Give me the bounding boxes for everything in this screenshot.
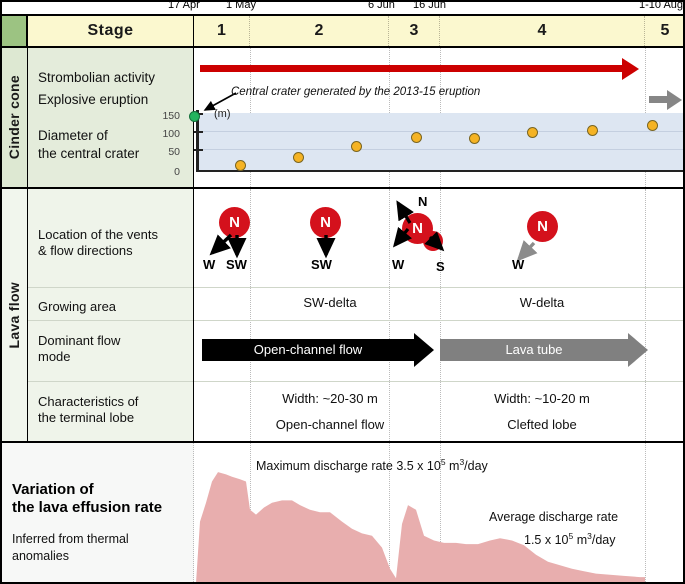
stage-cell-1[interactable]: 1 [194, 16, 250, 46]
stage-cell-label: 4 [538, 22, 547, 40]
lava-flow-content-area: N W SW N [194, 189, 685, 441]
content-row-separator-1 [194, 287, 685, 288]
terminal-lobe-type-sw: Open-channel flow [260, 417, 400, 432]
crater-chart-background [198, 113, 685, 171]
flow-direction-arrows-stage3 [390, 193, 470, 263]
lava-flow-row-labels: Location of the vents & flow directions … [28, 189, 194, 441]
stage-title-cell: Stage [28, 16, 194, 46]
date-strip: 17 Apr1 May6 Jun16 Jun1-10 Aug [0, 0, 685, 14]
stage-cell-label: 3 [410, 22, 419, 40]
stage-cell-3[interactable]: 3 [389, 16, 440, 46]
effusion-avg-annotation-line1: Average discharge rate [489, 510, 618, 524]
max-annot-tail: /day [464, 459, 488, 473]
flow-direction-label-stage1-sw: SW [226, 257, 247, 272]
cinder-cone-section: Cinder cone Strombolian activity Explosi… [0, 48, 685, 189]
effusion-subtitle-line1: Inferred from thermal [12, 531, 129, 548]
date-label-3: 16 Jun [413, 0, 446, 11]
row-label-vents-line2: & flow directions [38, 243, 133, 259]
effusion-title-line1: Variation of [12, 481, 162, 499]
crater-datapoint-3 [411, 132, 422, 143]
stage-cell-4[interactable]: 4 [440, 16, 645, 46]
terminal-lobe-width-w: Width: ~10-20 m [472, 391, 612, 406]
effusion-rate-section: Variation of the lava effusion rate Infe… [0, 443, 685, 584]
stage-cell-5[interactable]: 5 [645, 16, 685, 46]
stage-cell-label: 5 [661, 22, 670, 40]
content-row-separator-2 [194, 320, 685, 321]
flow-direction-label-stage3-s: S [436, 259, 445, 274]
stage-cell-2[interactable]: 2 [250, 16, 389, 46]
growing-area-sw-delta: SW-delta [270, 295, 390, 310]
flow-mode-arrow-lava-tube: Lava tube [440, 339, 648, 361]
row-label-flowmode-line2: mode [38, 349, 71, 365]
strombolian-activity-arrow-body [200, 65, 624, 72]
stage-header-row: Stage 12345 [0, 14, 685, 48]
crater-datapoint-4 [469, 133, 480, 144]
flow-direction-label-stage4-w: W [512, 257, 524, 272]
growing-area-w-delta: W-delta [482, 295, 602, 310]
row-label-vents-line1: Location of the vents [38, 227, 158, 243]
y-tick-150: 150 [154, 110, 180, 122]
terminal-lobe-width-sw: Width: ~20-30 m [260, 391, 400, 406]
chart-gridline-100 [198, 131, 685, 132]
flow-direction-label-stage2-sw: SW [311, 257, 332, 272]
flow-mode-arrow-open-channel: Open-channel flow [202, 339, 432, 361]
row-label-strombolian: Strombolian activity [38, 70, 155, 85]
stage-divider-5 [645, 189, 646, 441]
chart-tick-50 [194, 149, 203, 151]
strombolian-activity-arrow-head [622, 58, 639, 80]
stage-divider-2 [250, 189, 251, 441]
effusion-subtitle: Inferred from thermal anomalies [12, 531, 129, 565]
explosive-eruption-arrow-head [667, 90, 682, 110]
row-separator-3 [28, 381, 193, 382]
stage-cell-label: 2 [315, 22, 324, 40]
cinder-cone-side-text: Cinder cone [6, 75, 22, 159]
effusion-max-annotation: Maximum discharge rate 3.5 x 105 m3/day [256, 457, 488, 473]
date-label-2: 6 Jun [368, 0, 395, 11]
date-label-0: 17 Apr [168, 0, 200, 11]
cinder-cone-side-label: Cinder cone [0, 48, 28, 187]
crater-unit-label: (m) [214, 108, 231, 120]
crater-datapoint-5 [527, 127, 538, 138]
stage-cell-label: 1 [217, 22, 226, 40]
y-tick-50: 50 [154, 146, 180, 158]
row-label-growing-area: Growing area [38, 299, 116, 315]
row-label-lobe-line2: the terminal lobe [38, 410, 134, 426]
row-label-flowmode-line1: Dominant flow [38, 333, 120, 349]
y-tick-100: 100 [154, 128, 180, 140]
stage-title-label: Stage [87, 22, 133, 40]
crater-datapoint-7 [647, 120, 658, 131]
row-separator-1 [28, 287, 193, 288]
header-corner-cell [0, 16, 28, 46]
crater-annotation-text: Central crater generated by the 2013-15 … [231, 86, 480, 98]
date-label-4: 1-10 Aug [639, 0, 683, 11]
date-label-1: 1 May [226, 0, 256, 11]
effusion-area-path [196, 472, 645, 583]
effusion-avg-annotation-line2: 1.5 x 105 m3/day [524, 531, 615, 547]
max-annot-post: m [446, 459, 460, 473]
flow-direction-label-stage1-w: W [203, 257, 215, 272]
effusion-subtitle-line2: anomalies [12, 548, 129, 565]
row-separator-2 [28, 320, 193, 321]
lava-flow-section: Lava flow Location of the vents & flow d… [0, 189, 685, 443]
flow-direction-label-stage3-w: W [392, 257, 404, 272]
row-label-lobe-line1: Characteristics of [38, 394, 138, 410]
lava-flow-side-label: Lava flow [0, 189, 28, 441]
cinder-cone-row-labels: Strombolian activity Explosive eruption … [28, 48, 194, 187]
content-row-separator-3 [194, 381, 685, 382]
max-annot-pre: Maximum discharge rate 3.5 x 10 [256, 459, 441, 473]
avg-annot-mid: m [573, 533, 587, 547]
lava-flow-side-text: Lava flow [6, 282, 22, 349]
row-label-explosive: Explosive eruption [38, 92, 148, 107]
effusion-title: Variation of the lava effusion rate [12, 481, 162, 517]
chart-tick-100 [194, 131, 203, 133]
row-label-diameter-line1: Diameter of [38, 128, 108, 143]
crater-datapoint-initial [189, 111, 200, 122]
row-label-diameter-line2: the central crater [38, 146, 139, 161]
effusion-title-line2: the lava effusion rate [12, 499, 162, 517]
cinder-cone-plot-area: Central crater generated by the 2013-15 … [194, 48, 685, 187]
crater-datapoint-1 [293, 152, 304, 163]
crater-datapoint-0 [235, 160, 246, 171]
flow-mode-label-open-channel: Open-channel flow [202, 339, 414, 361]
effusion-chart-area: Maximum discharge rate 3.5 x 105 m3/day … [194, 443, 685, 584]
flow-direction-label-stage3-n: N [418, 194, 427, 209]
effusion-label-panel: Variation of the lava effusion rate Infe… [0, 443, 194, 584]
y-tick-0: 0 [154, 166, 180, 178]
crater-datapoint-6 [587, 125, 598, 136]
crater-datapoint-2 [351, 141, 362, 152]
chart-gridline-50 [198, 149, 685, 150]
explosive-eruption-arrow-body [649, 96, 669, 103]
flow-mode-label-lava-tube: Lava tube [440, 339, 628, 361]
chart-x-axis [196, 170, 685, 172]
volcano-eruption-timeline-figure: 17 Apr1 May6 Jun16 Jun1-10 Aug Stage 123… [0, 0, 685, 584]
avg-annot-tail: /day [592, 533, 616, 547]
terminal-lobe-type-w: Clefted lobe [472, 417, 612, 432]
avg-annot-pre: 1.5 x 10 [524, 533, 568, 547]
